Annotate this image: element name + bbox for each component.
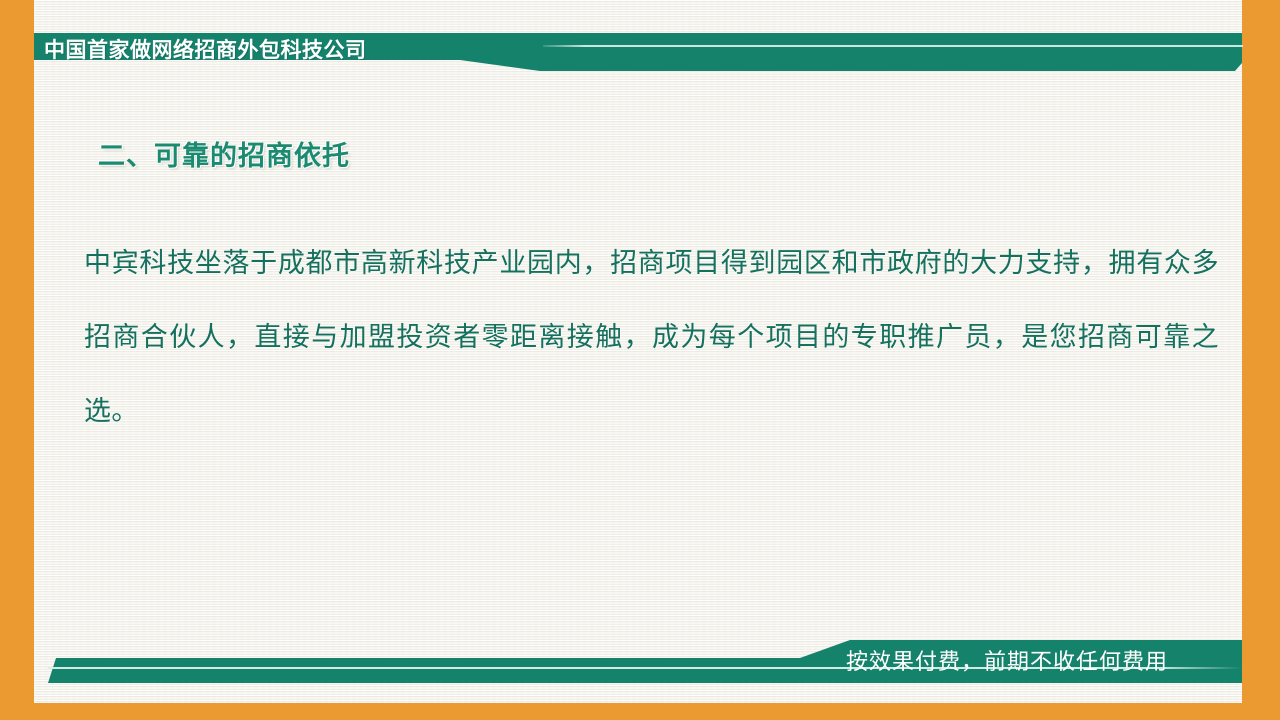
presentation-slide: 二、可靠的招商依托 中宾科技坐落于成都市高新科技产业园内，招商项目得到园区和市政… [0, 0, 1280, 720]
slide-canvas: 二、可靠的招商依托 中宾科技坐落于成都市高新科技产业园内，招商项目得到园区和市政… [34, 0, 1242, 703]
body-paragraph: 中宾科技坐落于成都市高新科技产业园内，招商项目得到园区和市政府的大力支持，拥有众… [84, 226, 1219, 448]
section-heading: 二、可靠的招商依托 [98, 134, 350, 173]
header-hairline-divider [543, 45, 1243, 47]
footer-tagline: 按效果付费，前期不收任何费用 [846, 646, 1168, 678]
header-title: 中国首家做网络招商外包科技公司 [44, 33, 367, 69]
